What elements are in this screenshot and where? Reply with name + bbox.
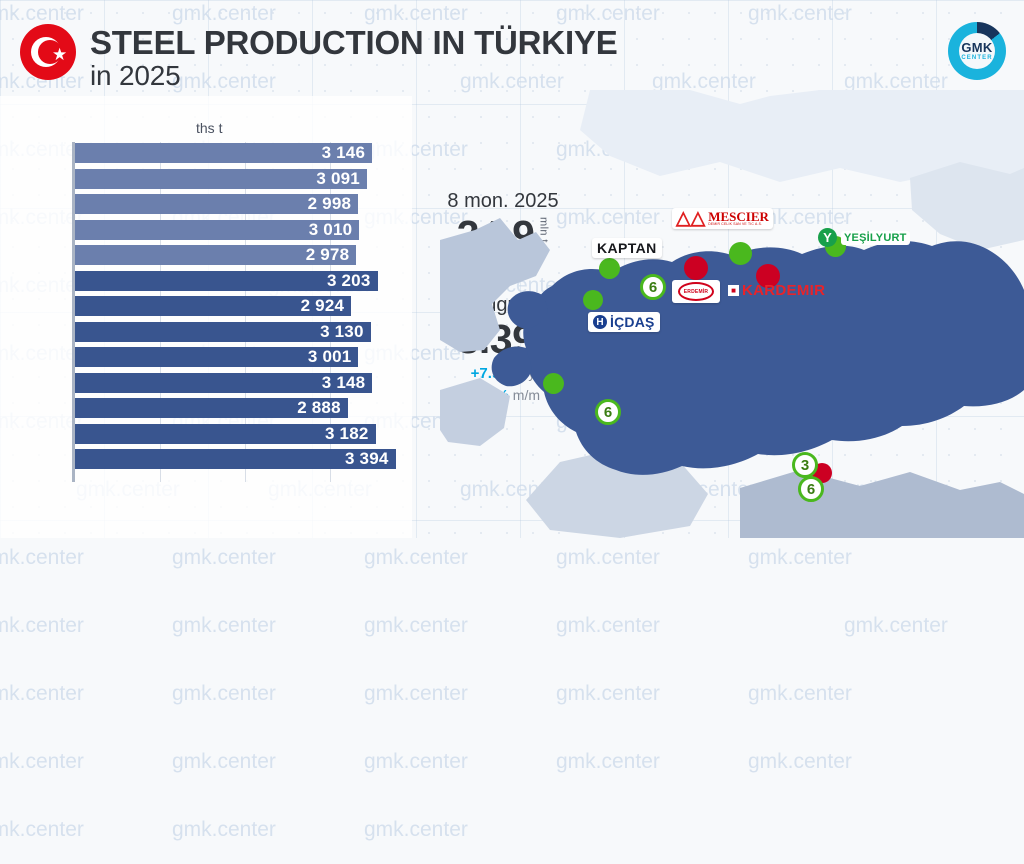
watermark-text: gmk.center — [556, 728, 748, 796]
watermark-text: gmk.center — [844, 592, 1024, 660]
watermark-text: gmk.center — [556, 660, 748, 728]
plant-label-kardemir[interactable]: ■ KARDEMIR — [728, 282, 825, 299]
watermark-text: gmk.center — [172, 728, 364, 796]
chart-bar-row: Apr.3 001 — [75, 347, 358, 367]
watermark-text: gmk.center — [748, 728, 940, 796]
chart-bar-row: Sep.3 091 — [75, 169, 367, 189]
blast-furnace-dot[interactable] — [684, 256, 708, 280]
chart-bar[interactable]: 2 978 — [75, 245, 356, 265]
watermark-text: gmk.center — [364, 592, 556, 660]
turkiye-map: electric steel plantsblast-furnace plant… — [440, 90, 1024, 538]
plant-cluster-marker[interactable]: 6 — [595, 399, 621, 425]
chart-bar-row: Oct.2 998 — [75, 194, 358, 214]
chart-bar-value: 3 091 — [316, 169, 367, 189]
chart-bar-value: 3 394 — [345, 449, 396, 469]
chart-bar[interactable]: 3 203 — [75, 271, 378, 291]
chart-bar[interactable]: 3 130 — [75, 322, 371, 342]
logo-tagline: CENTER — [961, 55, 992, 61]
cluster-count: 6 — [649, 279, 657, 296]
plant-cluster-marker[interactable]: 3 — [792, 452, 818, 478]
chart-bar[interactable]: 2 924 — [75, 296, 351, 316]
chart-bar-row: Aug.3 146 — [75, 143, 372, 163]
electric-plant-dot[interactable] — [599, 258, 620, 279]
watermark-text: gmk.center — [172, 592, 364, 660]
plant-label-kaptan[interactable]: KAPTAN — [592, 238, 662, 258]
watermark-text: gmk.center — [364, 660, 556, 728]
plant-label-mescier[interactable]: △△ MESCIER DEMIR CELIK SAN VE TIC A.S. — [672, 208, 773, 229]
mescier-emblem-icon: △△ — [676, 209, 705, 228]
chart-bar-value: 3 182 — [325, 424, 376, 444]
chart-bar-row: May3 148 — [75, 373, 372, 393]
cluster-count: 6 — [807, 481, 815, 498]
chart-bar-row: Aug.3 394 — [75, 449, 396, 469]
chart-plot-area: Aug.3 146Sep.3 091Oct.2 998Nov.3 010Dec.… — [72, 142, 412, 482]
cluster-count: 6 — [604, 404, 612, 421]
plant-name: ERDEMİR — [684, 289, 708, 295]
chart-bar-row: Jan.3 203 — [75, 271, 378, 291]
plant-label-erdemir[interactable]: ERDEMİR — [672, 280, 720, 303]
watermark-text: gmk.center — [0, 660, 172, 728]
plant-label-yesilyurt[interactable]: Y YEŞİLYURT — [818, 228, 910, 247]
chart-bar-value: 2 998 — [308, 194, 359, 214]
plant-label-icdas[interactable]: H İÇDAŞ — [588, 312, 660, 332]
watermark-text: gmk.center — [0, 592, 172, 660]
cluster-count: 3 — [801, 457, 809, 474]
watermark-text: gmk.center — [364, 728, 556, 796]
chart-bar-value: 2 978 — [306, 245, 357, 265]
watermark-text: gmk.center — [748, 660, 940, 728]
chart-bar-value: 3 010 — [309, 220, 360, 240]
production-bar-chart: ths t Aug.3 146Sep.3 091Oct.2 998Nov.3 0… — [0, 120, 420, 490]
chart-bar[interactable]: 3 001 — [75, 347, 358, 367]
chart-bar-row: Nov.3 010 — [75, 220, 359, 240]
plant-name: KARDEMIR — [742, 282, 825, 299]
watermark-text: gmk.center — [172, 660, 364, 728]
watermark-text: gmk.center — [556, 592, 748, 660]
watermark-text: gmk.center — [364, 796, 556, 864]
chart-bar-row: Feb.2 924 — [75, 296, 351, 316]
page-title: STEEL PRODUCTION IN TÜRKIYE — [90, 24, 618, 62]
map-shapes — [440, 90, 1024, 538]
plant-name: YEŞİLYURT — [844, 232, 907, 244]
chart-bar-value: 2 888 — [297, 398, 348, 418]
electric-plant-dot[interactable] — [543, 373, 564, 394]
chart-bar-row: Jun.2 888 — [75, 398, 348, 418]
plant-subtitle: DEMIR CELIK SAN VE TIC A.S. — [708, 223, 769, 226]
chart-bar[interactable]: 3 091 — [75, 169, 367, 189]
header: ★ STEEL PRODUCTION IN TÜRKIYE in 2025 GM… — [0, 0, 1024, 96]
page-subtitle: in 2025 — [90, 60, 180, 92]
kardemir-emblem-icon: ■ — [728, 285, 739, 296]
chart-bar-value: 2 924 — [301, 296, 352, 316]
plant-cluster-marker[interactable]: 6 — [640, 274, 666, 300]
chart-bar-value: 3 203 — [327, 271, 378, 291]
chart-bar-row: Dec.2 978 — [75, 245, 356, 265]
gmk-center-logo[interactable]: GMK CENTER — [948, 22, 1006, 80]
chart-bar-value: 3 146 — [322, 143, 373, 163]
icdas-emblem-icon: H — [593, 315, 607, 329]
chart-unit-label: ths t — [196, 120, 222, 136]
plant-cluster-marker[interactable]: 6 — [798, 476, 824, 502]
chart-bar-value: 3 130 — [320, 322, 371, 342]
plant-name: KAPTAN — [597, 240, 657, 256]
chart-bar[interactable]: 3 394 — [75, 449, 396, 469]
chart-bar-value: 3 001 — [308, 347, 359, 367]
plant-name: İÇDAŞ — [610, 314, 655, 330]
watermark-text: gmk.center — [0, 796, 172, 864]
chart-bar-row: Jul.3 182 — [75, 424, 376, 444]
chart-bar[interactable]: 3 182 — [75, 424, 376, 444]
chart-bar[interactable]: 2 888 — [75, 398, 348, 418]
watermark-text: gmk.center — [0, 728, 172, 796]
chart-bar[interactable]: 3 010 — [75, 220, 359, 240]
electric-plant-dot[interactable] — [583, 290, 603, 310]
yesilyurt-emblem-icon: Y — [818, 228, 837, 247]
chart-bar[interactable]: 3 148 — [75, 373, 372, 393]
chart-bar[interactable]: 2 998 — [75, 194, 358, 214]
logo-name: GMK — [961, 41, 992, 54]
erdemir-emblem-icon: ERDEMİR — [678, 282, 714, 301]
chart-bar-row: Mar.3 130 — [75, 322, 371, 342]
electric-plant-dot[interactable] — [729, 242, 752, 265]
chart-bar[interactable]: 3 146 — [75, 143, 372, 163]
turkey-flag-icon: ★ — [20, 24, 76, 80]
logo-inner: GMK CENTER — [959, 33, 995, 69]
chart-bar-value: 3 148 — [322, 373, 373, 393]
watermark-text: gmk.center — [172, 796, 364, 864]
